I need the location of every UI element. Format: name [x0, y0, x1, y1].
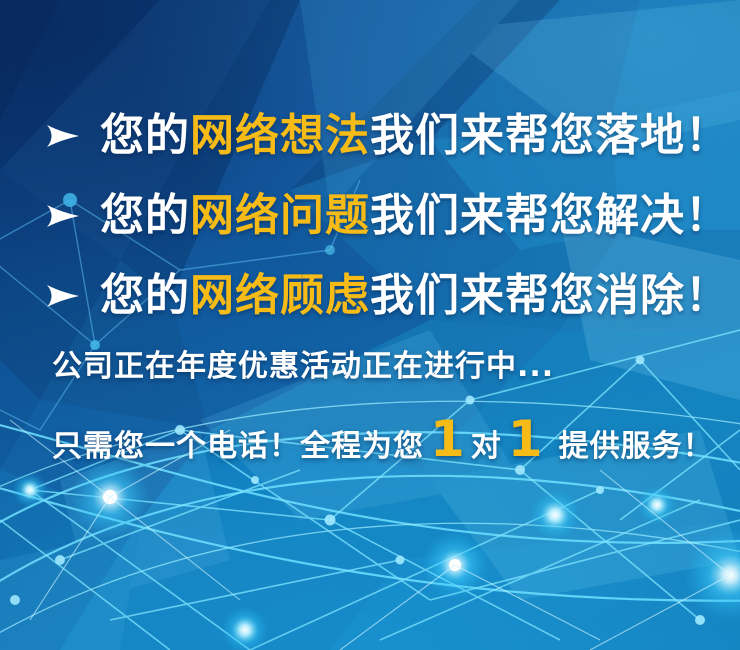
service-number-one-second: 1	[502, 414, 549, 464]
arrow-right-triangle-icon	[44, 281, 82, 311]
headline-text-3: 您的网络顾虑我们来帮您消除！	[100, 274, 730, 318]
service-middle-char: 对	[471, 432, 502, 462]
subtext-row-1: 公司正在年度优惠活动正在进行中...	[0, 352, 740, 414]
headline-2-highlight: 网络问题	[190, 190, 370, 241]
headline-3-highlight: 网络顾虑	[190, 270, 370, 321]
arrow-right-triangle-icon	[44, 201, 82, 231]
headline-3-prefix: 您的	[100, 270, 190, 321]
headline-row-3: 您的网络顾虑我们来帮您消除！	[0, 256, 740, 336]
headline-2-suffix: 我们来帮您解决！	[370, 190, 730, 241]
headline-1-highlight: 网络想法	[190, 110, 370, 161]
headline-row-2: 您的网络问题我们来帮您解决！	[0, 176, 740, 256]
headline-text-2: 您的网络问题我们来帮您解决！	[100, 194, 730, 238]
banner-content: 您的网络想法我们来帮您落地！ 您的网络问题我们来帮您解决！ 您的网络顾虑我们来帮…	[0, 0, 740, 650]
headline-text-1: 您的网络想法我们来帮您落地！	[100, 114, 730, 158]
subtext-block: 公司正在年度优惠活动正在进行中... 只需您一个电话！全程为您 1 对 1 提供…	[0, 352, 740, 476]
headline-2-prefix: 您的	[100, 190, 190, 241]
headline-row-1: 您的网络想法我们来帮您落地！	[0, 96, 740, 176]
headline-1-prefix: 您的	[100, 110, 190, 161]
headline-1-suffix: 我们来帮您落地！	[370, 110, 730, 161]
arrow-right-triangle-icon	[44, 121, 82, 151]
headline-list: 您的网络想法我们来帮您落地！ 您的网络问题我们来帮您解决！ 您的网络顾虑我们来帮…	[0, 96, 740, 336]
promo-banner: 您的网络想法我们来帮您落地！ 您的网络问题我们来帮您解决！ 您的网络顾虑我们来帮…	[0, 0, 740, 650]
service-call-text-part2: 提供服务！	[559, 432, 714, 462]
promo-activity-text: 公司正在年度优惠活动正在进行中...	[52, 352, 554, 382]
headline-3-suffix: 我们来帮您消除！	[370, 270, 730, 321]
service-number-one-first: 1	[424, 414, 471, 464]
service-call-text-part1: 只需您一个电话！全程为您	[52, 432, 424, 462]
subtext-row-2: 只需您一个电话！全程为您 1 对 1 提供服务！	[0, 414, 740, 476]
